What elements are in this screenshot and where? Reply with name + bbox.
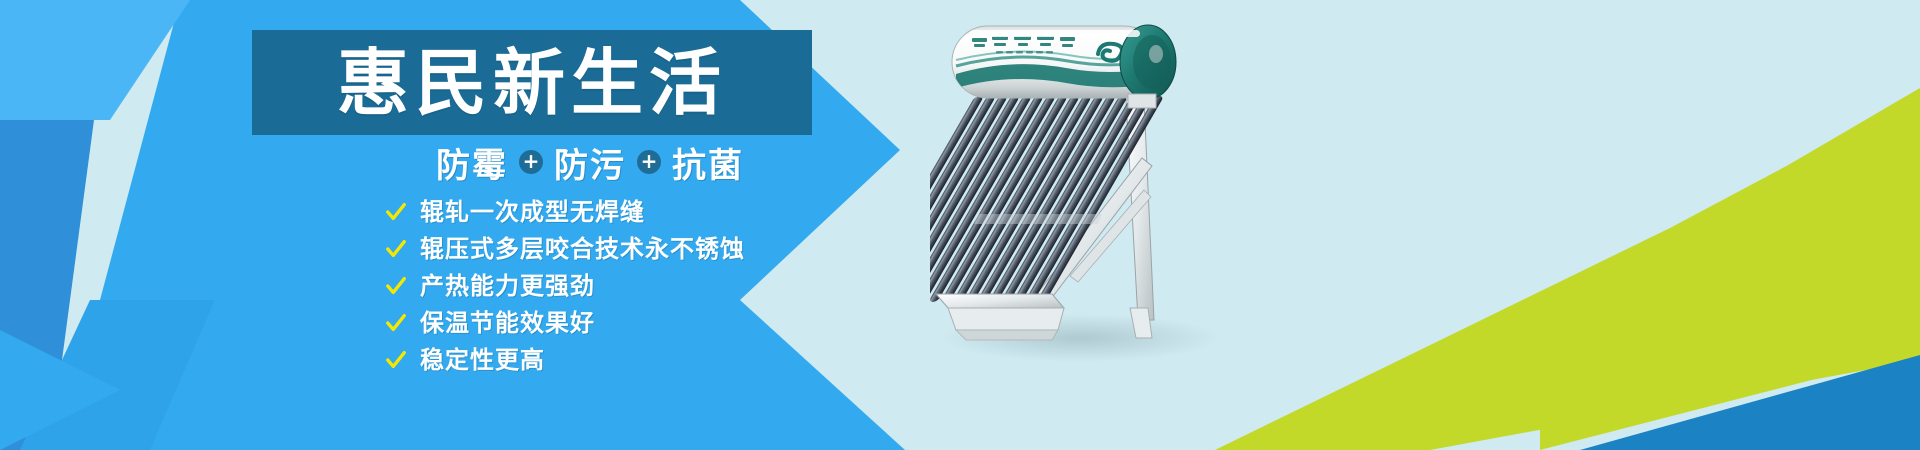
- plus-icon: +: [637, 150, 661, 174]
- list-item-label: 辊压式多层咬合技术永不锈蚀: [420, 237, 745, 261]
- subtitle: 防霉 + 防污 + 抗菌: [370, 138, 810, 186]
- promo-banner: 惠民新生活 防霉 + 防污 + 抗菌 辊轧一次成型无焊缝 辊压式多层咬合技术永不…: [0, 0, 1920, 450]
- list-item-label: 稳定性更高: [420, 348, 545, 372]
- check-icon: [385, 275, 407, 297]
- subtitle-word-3: 抗菌: [672, 138, 744, 187]
- check-icon: [385, 238, 407, 260]
- list-item: 保温节能效果好: [385, 307, 815, 338]
- check-icon: [385, 349, 407, 371]
- list-item: 辊压式多层咬合技术永不锈蚀: [385, 233, 815, 264]
- list-item: 产热能力更强劲: [385, 270, 815, 301]
- list-item-label: 辊轧一次成型无焊缝: [420, 200, 645, 224]
- subtitle-word-1: 防霉: [436, 138, 508, 187]
- check-icon: [385, 201, 407, 223]
- list-item-label: 产热能力更强劲: [420, 274, 595, 298]
- list-item: 辊轧一次成型无焊缝: [385, 196, 815, 227]
- check-icon: [385, 312, 407, 334]
- headline-box: 惠民新生活: [252, 30, 812, 135]
- water-tank: [952, 25, 1176, 99]
- feature-list: 辊轧一次成型无焊缝 辊压式多层咬合技术永不锈蚀 产热能力更强劲 保温节能效果好: [385, 196, 815, 375]
- page-title: 惠民新生活: [337, 47, 727, 119]
- plus-icon: +: [519, 150, 543, 174]
- product-image-solar-water-heater: [930, 8, 1260, 368]
- list-item: 稳定性更高: [385, 344, 815, 375]
- subtitle-word-2: 防污: [554, 138, 626, 187]
- evacuated-tubes: [930, 96, 1164, 302]
- list-item-label: 保温节能效果好: [420, 311, 595, 335]
